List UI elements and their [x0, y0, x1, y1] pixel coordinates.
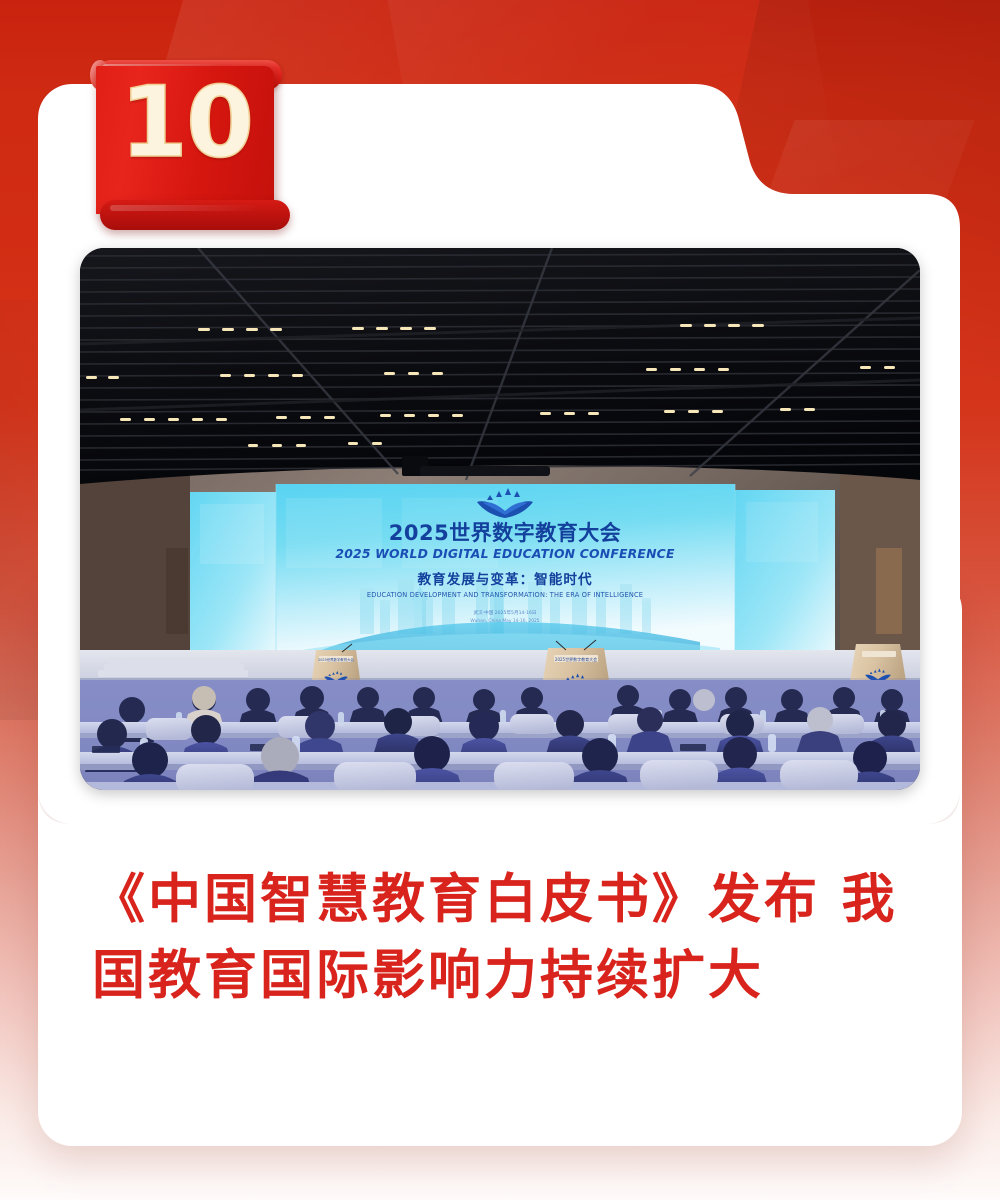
screen-subtitle-cn: 教育发展与变革：智能时代 — [417, 571, 592, 588]
screen-location-en: Wuhan, China May 14-16, 2025 — [470, 618, 539, 624]
conference-hall-photo: 2025世界数字教育大会 2025 WORLD DIGITAL EDUCATIO… — [80, 248, 920, 790]
screen-subtitle-en: EDUCATION DEVELOPMENT AND TRANSFORMATION… — [367, 591, 643, 599]
page-title: 《中国智慧教育白皮书》发布 我国教育国际影响力持续扩大 — [92, 862, 908, 1015]
screen-title-en: 2025 WORLD DIGITAL EDUCATION CONFERENCE — [335, 546, 675, 561]
number-badge-ribbon: 10 — [88, 52, 284, 227]
poster-canvas: 2025世界数字教育大会 2025 WORLD DIGITAL EDUCATIO… — [0, 0, 1000, 1200]
screen-title-cn: 2025世界数字教育大会 — [389, 521, 621, 545]
photo-illustration: 2025世界数字教育大会 2025 WORLD DIGITAL EDUCATIO… — [80, 248, 920, 790]
screen-location-cn: 武汉·中国 2025年5月14-16日 — [473, 609, 536, 616]
podium-center-label: 2025世界数字教育大会 — [555, 656, 597, 662]
ribbon-bottom-roll — [100, 200, 290, 230]
podium-left-label: 2025世界数字教育大会 — [318, 657, 354, 662]
badge-number: 10 — [88, 74, 284, 172]
